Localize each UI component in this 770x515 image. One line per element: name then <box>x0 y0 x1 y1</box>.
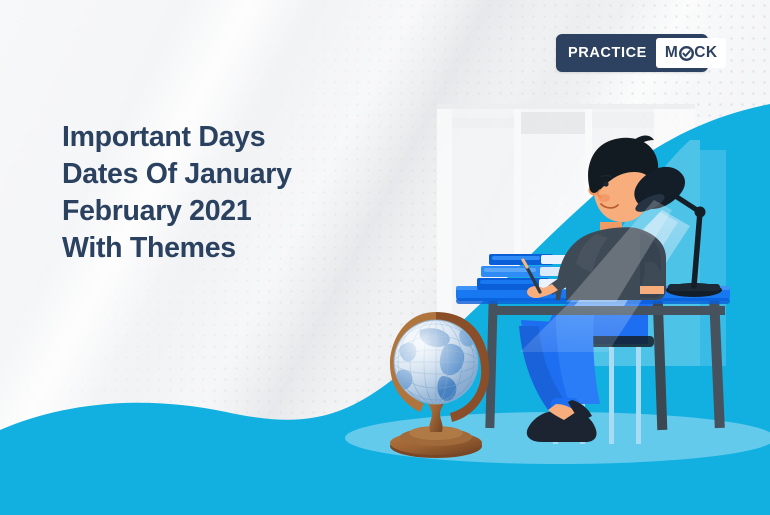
logo-mock-text: M CK <box>665 44 718 62</box>
title-line-2: Dates Of January <box>62 156 422 193</box>
logo-practice-text: PRACTICE <box>560 45 656 61</box>
logo-mock-box: M CK <box>656 38 727 68</box>
title-line-4: With Themes <box>62 230 422 267</box>
practicemock-logo[interactable]: PRACTICE M CK <box>556 34 708 72</box>
check-circle-icon <box>679 46 694 61</box>
page-title: Important Days Dates Of January February… <box>62 119 422 267</box>
logo-mock-suffix: CK <box>694 44 717 62</box>
title-line-3: February 2021 <box>62 193 422 230</box>
banner-root: PRACTICE M CK Important Days Dates Of Ja… <box>0 0 770 515</box>
logo-mock-prefix: M <box>665 44 678 62</box>
title-line-1: Important Days <box>62 119 422 156</box>
